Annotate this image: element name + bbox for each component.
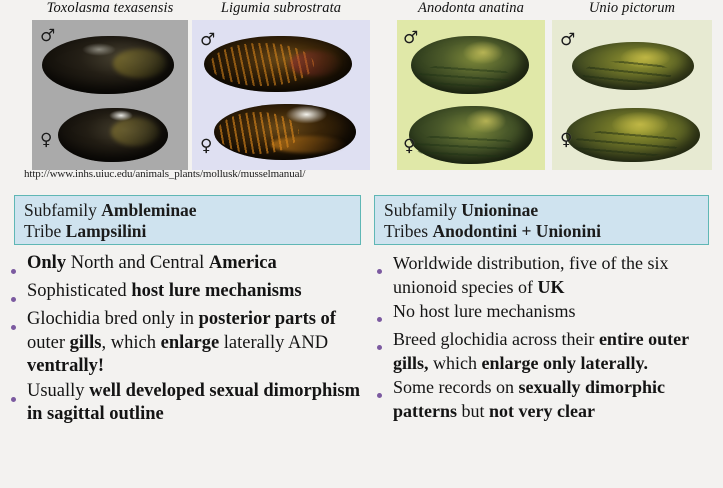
shell-band [290,51,340,77]
shell-growth-lines [415,132,514,161]
specimen-title-4: Unio pictorum [552,0,712,17]
list-item-text: Only North and Central America [27,252,366,276]
taxon-left-rank-1: Subfamily [24,200,101,220]
bullet-dot-icon [8,252,27,279]
taxon-left-rank-2: Tribe [24,221,66,241]
specimen-photo-3: ♂ ♀ [397,20,545,170]
shell-growth-lines [574,129,679,158]
specimen-strip: Toxolasma texasensis ♂ ♀ Ligumia subrost… [0,0,723,182]
list-item: Usually well developed sexual dimorphism… [8,380,366,427]
specimen-photo-4: ♂ ♀ [552,20,712,170]
shell-growth-lines [418,63,510,91]
list-item: Some records on sexually dimorphic patte… [374,376,719,423]
specimen-card-3: Anodonta anatina ♂ ♀ [397,0,545,170]
bullet-list-ambleminae: Only North and Central AmericaSophistica… [8,252,366,428]
specimen-title-3: Anodonta anatina [397,0,545,17]
shell-band [113,49,166,78]
taxon-right-name-2: Anodontini + Unionini [432,221,601,241]
taxon-right-name-1: Unioninae [461,200,538,220]
male-symbol-3: ♂ [403,30,418,47]
bullet-dot-icon [374,376,393,403]
specimen-card-1: Toxolasma texasensis ♂ ♀ [32,0,188,170]
shell-growth-lines [582,61,672,86]
taxon-box-right: Subfamily Unioninae Tribes Anodontini + … [374,195,709,245]
source-url[interactable]: http://www.inhs.uiuc.edu/animals_plants/… [24,168,305,181]
male-symbol-1: ♂ [40,28,55,45]
female-symbol-2: ♀ [200,138,212,155]
shell-male-4 [572,42,694,90]
shell-female-4 [566,108,700,162]
female-symbol-4: ♀ [560,132,572,149]
male-symbol-2: ♂ [200,32,215,49]
female-symbol-1: ♀ [40,132,52,149]
list-item-text: Usually well developed sexual dimorphism… [27,380,366,427]
list-item-text: Glochidia bred only in posterior parts o… [27,308,366,379]
list-item-text: Some records on sexually dimorphic patte… [393,376,719,423]
taxon-right-line-2: Tribes Anodontini + Unionini [384,221,699,242]
list-item: Only North and Central America [8,252,366,279]
shell-female-1 [58,108,168,162]
list-item-text: Worldwide distribution, five of the six … [393,252,719,299]
bullet-dot-icon [374,252,393,279]
specimen-photo-2: ♂ ♀ [192,20,370,170]
specimen-title-2: Ligumia subrostrata [192,0,370,17]
bullet-dot-icon [374,300,393,327]
list-item: Worldwide distribution, five of the six … [374,252,719,299]
shell-band [111,118,159,146]
shell-male-1 [42,36,174,94]
shell-umbo [463,41,503,64]
list-item-text: No host lure mechanisms [393,300,719,324]
bullet-dot-icon [374,328,393,355]
taxon-right-rank-2: Tribes [384,221,432,241]
list-item: Glochidia bred only in posterior parts o… [8,308,366,379]
taxon-box-left: Subfamily Ambleminae Tribe Lampsilini [14,195,361,245]
specimen-title-1: Toxolasma texasensis [32,0,188,17]
taxon-left-name-2: Lampsilini [66,221,147,241]
taxon-right-line-1: Subfamily Unioninae [384,200,699,221]
specimen-card-4: Unio pictorum ♂ ♀ [552,0,712,170]
taxon-left-line-2: Tribe Lampsilini [24,221,351,242]
list-item: Breed glochidia across their entire oute… [374,328,719,375]
taxon-left-name-1: Ambleminae [101,200,196,220]
shell-female-3 [409,106,533,164]
list-item: Sophisticated host lure mechanisms [8,280,366,307]
bullet-dot-icon [8,308,27,335]
shell-highlight [285,105,328,124]
bullet-list-unioninae: Worldwide distribution, five of the six … [374,252,719,424]
female-symbol-3: ♀ [403,138,415,155]
male-symbol-4: ♂ [560,32,575,49]
shell-umbo [466,109,506,132]
list-item-text: Breed glochidia across their entire oute… [393,328,719,375]
specimen-photo-1: ♂ ♀ [32,20,188,170]
shell-highlight [82,43,116,56]
shell-male-2 [204,36,352,92]
list-item-text: Sophisticated host lure mechanisms [27,280,366,304]
specimen-card-2: Ligumia subrostrata ♂ ♀ [192,0,370,170]
shell-band [271,136,345,153]
shell-female-2 [214,104,356,160]
shell-highlight [109,110,133,121]
bullet-dot-icon [8,380,27,407]
bullet-dot-icon [8,280,27,307]
list-item: No host lure mechanisms [374,300,719,327]
shell-male-3 [411,36,529,94]
taxon-left-line-1: Subfamily Ambleminae [24,200,351,221]
taxon-right-rank-1: Subfamily [384,200,461,220]
